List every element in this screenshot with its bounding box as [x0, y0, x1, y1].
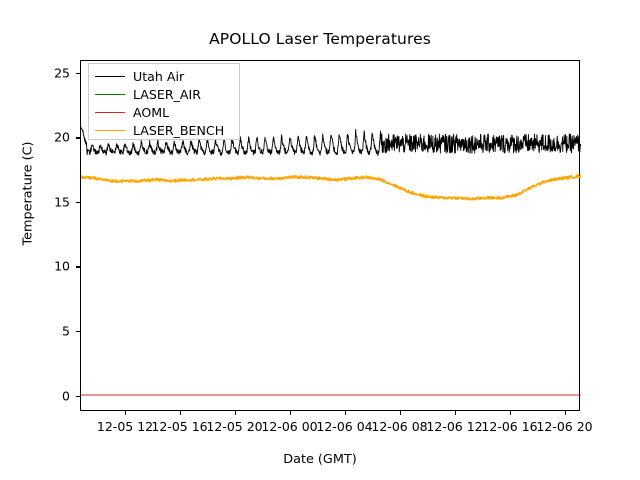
x-tick-label: 12-05 12: [97, 419, 153, 434]
chart-figure: APOLLO Laser Temperatures Temperature (C…: [0, 0, 640, 480]
y-tick-label: 5: [24, 323, 70, 338]
legend-color-swatch: [95, 112, 125, 113]
x-tick-label: 12-06 16: [481, 419, 537, 434]
legend-item: LASER_AIR: [95, 86, 325, 104]
legend-color-swatch: [95, 94, 125, 95]
y-tick-label: 0: [24, 388, 70, 403]
x-tick-label: 12-06 08: [371, 419, 427, 434]
y-tick-label: 15: [24, 194, 70, 209]
chart-legend: Utah AirLASER_AIRAOMLLASER_BENCH: [88, 63, 240, 140]
legend-label: AOML: [133, 104, 169, 122]
legend-label: LASER_AIR: [133, 86, 201, 104]
x-axis-label: Date (GMT): [0, 452, 640, 467]
x-tick-label: 12-05 16: [151, 419, 207, 434]
y-tick-label: 10: [24, 259, 70, 274]
legend-item: Utah Air: [95, 68, 325, 86]
x-tick-label: 12-06 20: [536, 419, 592, 434]
x-tick-label: 12-05 20: [206, 419, 262, 434]
y-tick-label: 25: [24, 65, 70, 80]
legend-color-swatch: [95, 130, 125, 131]
x-tick-label: 12-06 00: [261, 419, 317, 434]
legend-label: Utah Air: [133, 68, 184, 86]
legend-label: LASER_BENCH: [133, 122, 224, 140]
y-tick-label: 20: [24, 130, 70, 145]
legend-color-swatch: [95, 76, 125, 77]
x-tick-label: 12-06 12: [426, 419, 482, 434]
x-tick-label: 12-06 04: [316, 419, 372, 434]
legend-item: AOML: [95, 104, 325, 122]
chart-title: APOLLO Laser Temperatures: [0, 30, 640, 48]
legend-item: LASER_BENCH: [95, 122, 325, 140]
